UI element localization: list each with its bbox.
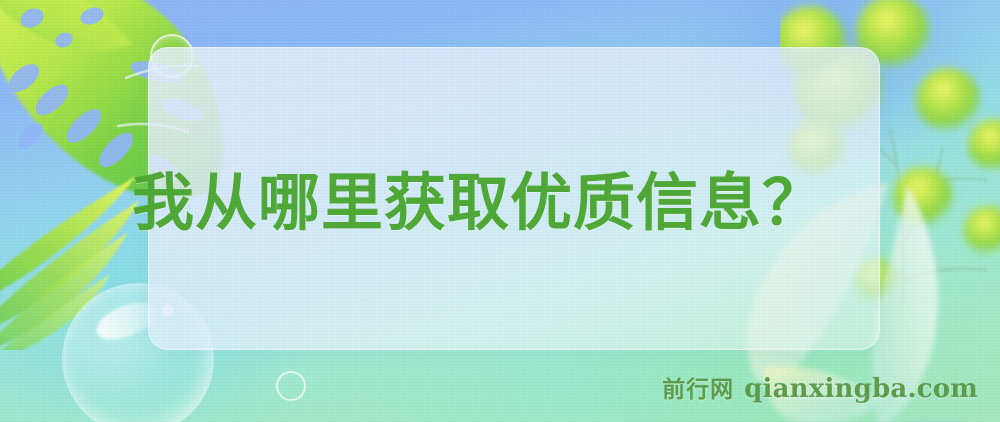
watermark-site-name: 前行网 [662, 370, 734, 404]
page-title: 我从哪里获取优质信息？ [132, 166, 872, 240]
watermark: 前行网 qianxingba.com [662, 370, 978, 404]
watermark-url: qianxingba.com [744, 374, 978, 404]
bubble-ring-small-icon [276, 371, 306, 401]
banner-image: 我从哪里获取优质信息？ 前行网 qianxingba.com [0, 0, 1000, 422]
